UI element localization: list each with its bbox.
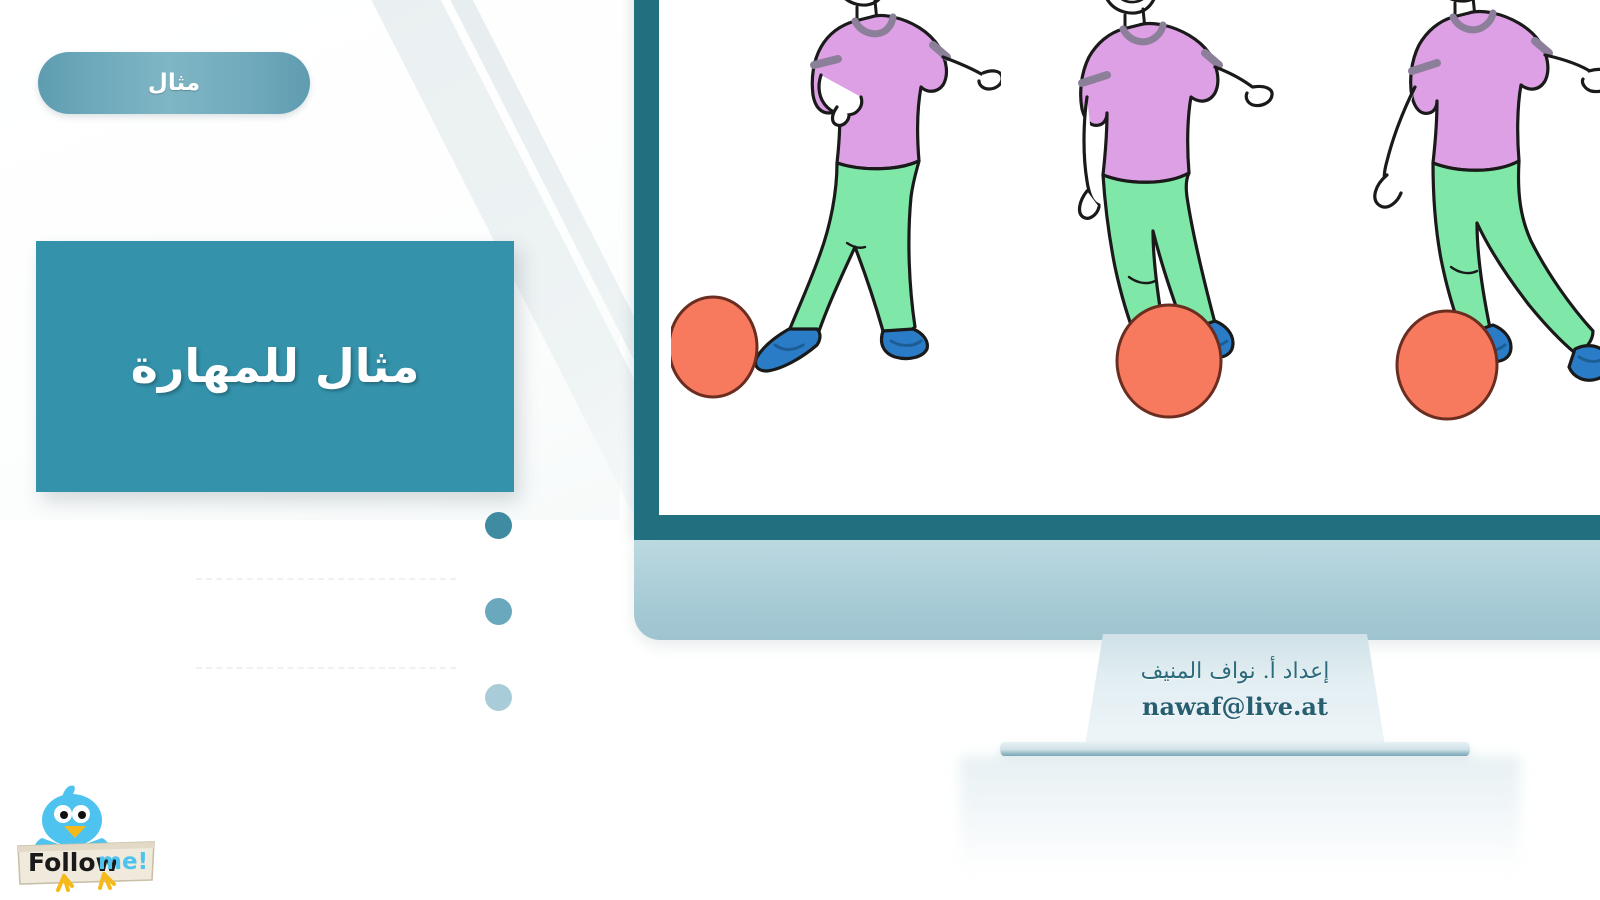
example-badge-label: مثال (148, 70, 200, 96)
skill-figure-2 (1029, 0, 1329, 515)
placeholder-line-1 (196, 578, 456, 580)
bullet-dot-3[interactable] (485, 684, 512, 711)
skill-figure-3 (1331, 0, 1600, 515)
slide-canvas: مثال مثال للمهارة (0, 0, 1600, 900)
placeholder-line-2 (196, 667, 456, 669)
monitor-screen (659, 0, 1600, 515)
monitor-foot-base (1000, 742, 1470, 756)
author-email: nawaf@live.at (1142, 692, 1328, 721)
monitor-frame (634, 0, 1600, 540)
bullet-list (485, 512, 519, 712)
twitter-bird-icon (35, 786, 109, 853)
follow-me-badge[interactable]: Follow me! (6, 768, 166, 896)
bullet-dot-2[interactable] (485, 598, 512, 625)
monitor-chin (634, 540, 1600, 640)
example-badge[interactable]: مثال (38, 52, 310, 114)
monitor-stand: إعداد أ. نواف المنيف nawaf@live.at (1085, 634, 1385, 746)
author-credit: إعداد أ. نواف المنيف (1141, 659, 1330, 684)
skill-figure-1 (671, 0, 1001, 515)
follow-label-light: me! (98, 849, 148, 875)
title-block: مثال للمهارة (36, 241, 514, 492)
bullet-dot-1[interactable] (485, 512, 512, 539)
page-title: مثال للمهارة (131, 338, 420, 396)
monitor-reflection (960, 756, 1520, 876)
